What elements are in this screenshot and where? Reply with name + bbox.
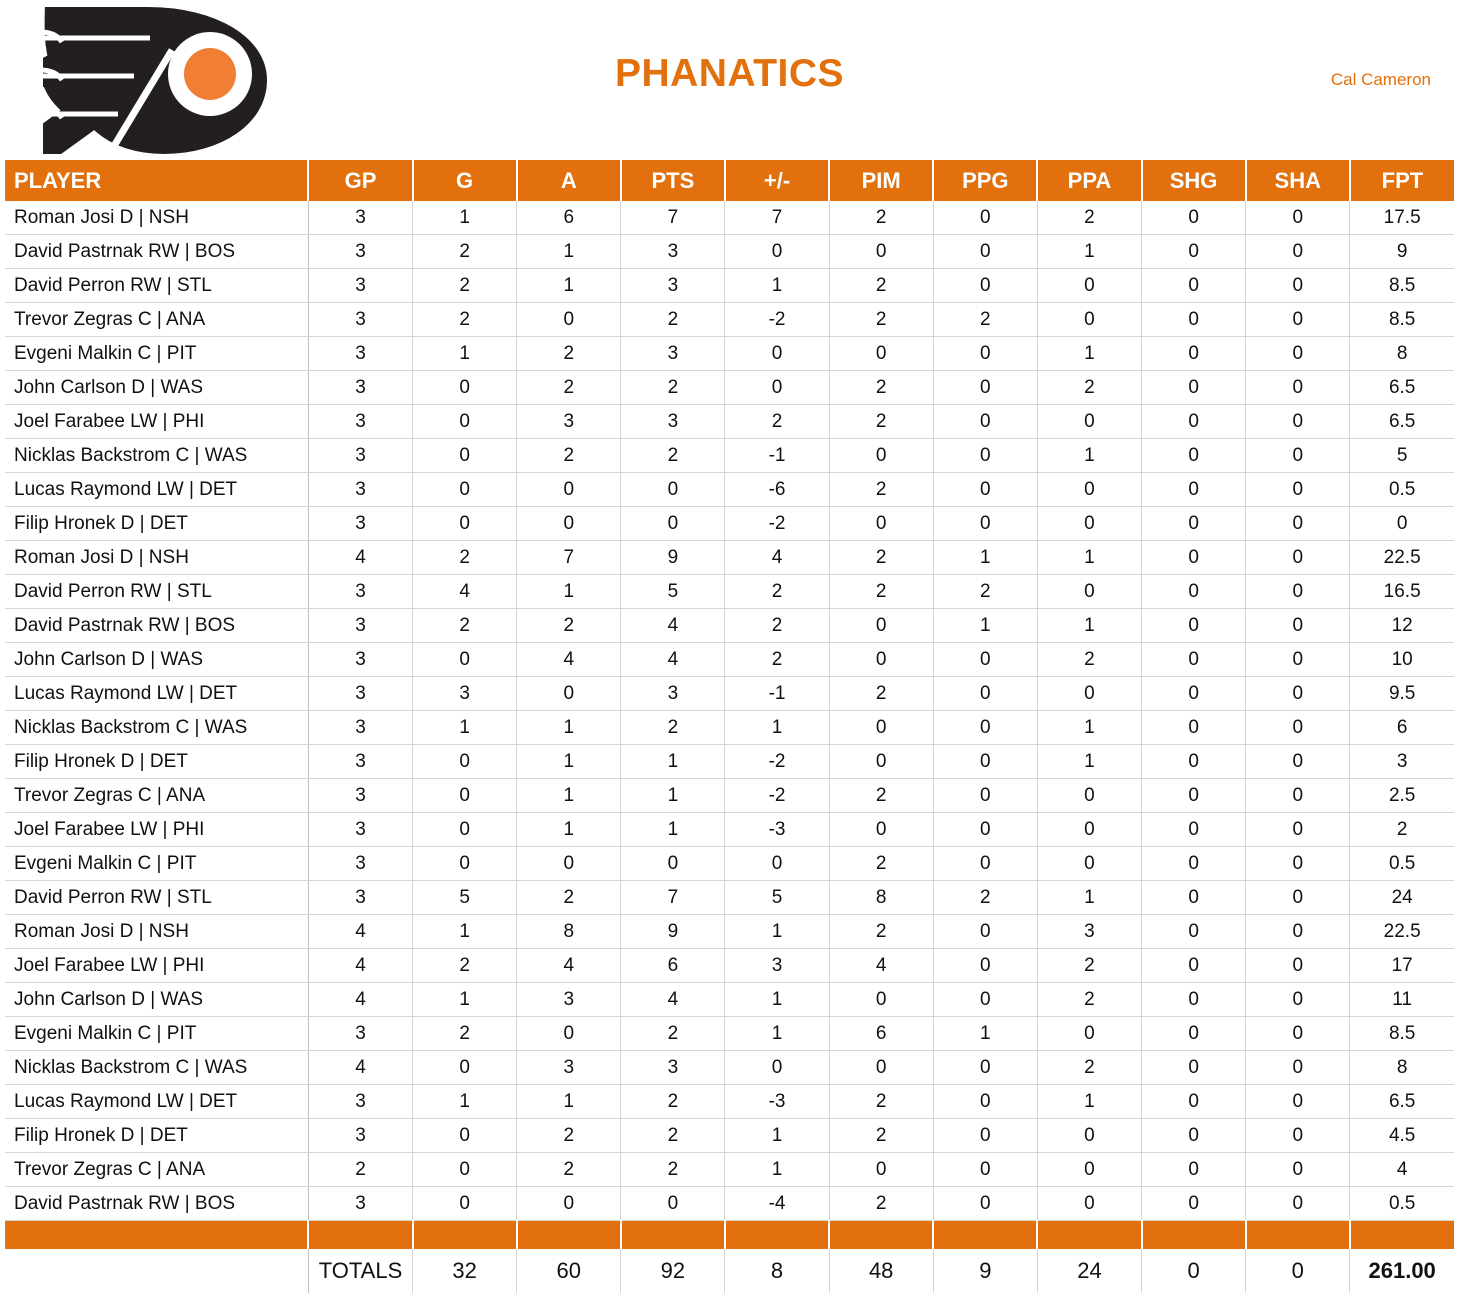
cell-ppa: 0 — [1037, 473, 1141, 507]
cell-shg: 0 — [1142, 1017, 1246, 1051]
cell-shg: 0 — [1142, 575, 1246, 609]
cell-player-name: David Pastrnak RW | BOS — [5, 235, 308, 269]
table-row: Trevor Zegras C | ANA3202-2220008.5 — [5, 303, 1454, 337]
cell-pts: 0 — [621, 473, 725, 507]
cell-pim: 2 — [829, 779, 933, 813]
separator-cell — [725, 1221, 829, 1250]
cell-g: 2 — [413, 303, 517, 337]
cell-pim: 0 — [829, 507, 933, 541]
cell-pim: 4 — [829, 949, 933, 983]
cell-g: 2 — [413, 1017, 517, 1051]
cell-pts: 4 — [621, 609, 725, 643]
cell-player-name: Roman Josi D | NSH — [5, 915, 308, 949]
cell-shg: 0 — [1142, 1119, 1246, 1153]
cell-pts: 9 — [621, 541, 725, 575]
cell-plusminus: -4 — [725, 1187, 829, 1221]
cell-pim: 0 — [829, 337, 933, 371]
cell-plusminus: 2 — [725, 405, 829, 439]
table-row: Trevor Zegras C | ANA3011-2200002.5 — [5, 779, 1454, 813]
cell-fpt: 9 — [1350, 235, 1454, 269]
cell-a: 0 — [517, 1187, 621, 1221]
totals-blank-cell — [5, 1249, 308, 1293]
cell-shg: 0 — [1142, 235, 1246, 269]
cell-shg: 0 — [1142, 1187, 1246, 1221]
cell-plusminus: 2 — [725, 643, 829, 677]
cell-gp: 3 — [308, 1119, 412, 1153]
table-row: Nicklas Backstrom C | WAS3022-1001005 — [5, 439, 1454, 473]
cell-ppg: 0 — [933, 983, 1037, 1017]
cell-gp: 3 — [308, 1187, 412, 1221]
cell-sha: 0 — [1246, 439, 1350, 473]
cell-fpt: 6 — [1350, 711, 1454, 745]
cell-shg: 0 — [1142, 1085, 1246, 1119]
roster-stats-page: R PHANATICS Cal Cameron PLAYER GP G A PT… — [0, 0, 1459, 1299]
cell-gp: 3 — [308, 643, 412, 677]
cell-sha: 0 — [1246, 405, 1350, 439]
cell-ppg: 0 — [933, 201, 1037, 235]
cell-g: 2 — [413, 949, 517, 983]
cell-shg: 0 — [1142, 371, 1246, 405]
cell-shg: 0 — [1142, 303, 1246, 337]
totals-ppg: 9 — [933, 1249, 1037, 1293]
cell-a: 3 — [517, 1051, 621, 1085]
table-row: Roman Josi D | NSH418912030022.5 — [5, 915, 1454, 949]
separator-cell — [621, 1221, 725, 1250]
cell-pts: 0 — [621, 847, 725, 881]
cell-ppg: 0 — [933, 1051, 1037, 1085]
cell-plusminus: -6 — [725, 473, 829, 507]
table-row: Evgeni Malkin C | PIT31230001008 — [5, 337, 1454, 371]
cell-sha: 0 — [1246, 609, 1350, 643]
separator-cell — [1037, 1221, 1141, 1250]
cell-g: 0 — [413, 371, 517, 405]
cell-ppa: 0 — [1037, 575, 1141, 609]
cell-plusminus: 3 — [725, 949, 829, 983]
cell-ppg: 0 — [933, 915, 1037, 949]
cell-ppa: 1 — [1037, 711, 1141, 745]
cell-pts: 4 — [621, 643, 725, 677]
table-row: Roman Josi D | NSH316772020017.5 — [5, 201, 1454, 235]
cell-shg: 0 — [1142, 677, 1246, 711]
cell-pts: 2 — [621, 1085, 725, 1119]
cell-ppg: 0 — [933, 745, 1037, 779]
cell-shg: 0 — [1142, 541, 1246, 575]
cell-ppa: 0 — [1037, 405, 1141, 439]
table-row: Joel Farabee LW | PHI30332200006.5 — [5, 405, 1454, 439]
cell-ppg: 0 — [933, 1085, 1037, 1119]
cell-sha: 0 — [1246, 235, 1350, 269]
cell-fpt: 4 — [1350, 1153, 1454, 1187]
cell-pim: 2 — [829, 847, 933, 881]
cell-a: 1 — [517, 745, 621, 779]
cell-pim: 0 — [829, 643, 933, 677]
cell-sha: 0 — [1246, 269, 1350, 303]
totals-sha: 0 — [1246, 1249, 1350, 1293]
cell-ppg: 2 — [933, 575, 1037, 609]
table-row: David Perron RW | STL32131200008.5 — [5, 269, 1454, 303]
cell-a: 1 — [517, 235, 621, 269]
cell-fpt: 8 — [1350, 337, 1454, 371]
team-title: PHANATICS — [0, 52, 1459, 96]
cell-player-name: Filip Hronek D | DET — [5, 745, 308, 779]
column-header-plusminus[interactable]: +/- — [725, 160, 829, 201]
table-row: Joel Farabee LW | PHI424634020017 — [5, 949, 1454, 983]
separator-cell — [933, 1221, 1037, 1250]
cell-a: 3 — [517, 405, 621, 439]
cell-a: 2 — [517, 337, 621, 371]
totals-a: 60 — [517, 1249, 621, 1293]
cell-a: 1 — [517, 779, 621, 813]
table-row: John Carlson D | WAS30220202006.5 — [5, 371, 1454, 405]
cell-sha: 0 — [1246, 541, 1350, 575]
column-header-player[interactable]: PLAYER — [5, 160, 308, 201]
cell-ppg: 0 — [933, 779, 1037, 813]
table-row: David Pastrnak RW | BOS32130001009 — [5, 235, 1454, 269]
cell-pim: 0 — [829, 813, 933, 847]
cell-plusminus: 0 — [725, 371, 829, 405]
column-header-pts[interactable]: PTS — [621, 160, 725, 201]
cell-sha: 0 — [1246, 983, 1350, 1017]
table-row: Lucas Raymond LW | DET3112-3201006.5 — [5, 1085, 1454, 1119]
cell-plusminus: -3 — [725, 1085, 829, 1119]
column-header-a[interactable]: A — [517, 160, 621, 201]
cell-plusminus: 1 — [725, 1017, 829, 1051]
cell-gp: 3 — [308, 405, 412, 439]
cell-ppg: 0 — [933, 337, 1037, 371]
cell-ppa: 1 — [1037, 337, 1141, 371]
cell-ppg: 0 — [933, 235, 1037, 269]
cell-sha: 0 — [1246, 1119, 1350, 1153]
cell-g: 1 — [413, 915, 517, 949]
separator-cell — [1246, 1221, 1350, 1250]
cell-ppa: 0 — [1037, 1153, 1141, 1187]
cell-fpt: 8.5 — [1350, 303, 1454, 337]
cell-player-name: Joel Farabee LW | PHI — [5, 813, 308, 847]
cell-gp: 3 — [308, 473, 412, 507]
cell-gp: 3 — [308, 201, 412, 235]
cell-sha: 0 — [1246, 337, 1350, 371]
totals-fpt: 261.00 — [1350, 1249, 1454, 1293]
cell-player-name: David Perron RW | STL — [5, 881, 308, 915]
cell-g: 0 — [413, 643, 517, 677]
table-row: Filip Hronek D | DET3011-2001003 — [5, 745, 1454, 779]
cell-fpt: 8 — [1350, 1051, 1454, 1085]
separator-cell — [1350, 1221, 1454, 1250]
cell-gp: 3 — [308, 711, 412, 745]
cell-pts: 6 — [621, 949, 725, 983]
cell-gp: 3 — [308, 303, 412, 337]
cell-ppa: 2 — [1037, 643, 1141, 677]
column-header-fpt[interactable]: FPT — [1350, 160, 1454, 201]
cell-pts: 3 — [621, 337, 725, 371]
cell-pim: 2 — [829, 1119, 933, 1153]
cell-plusminus: 1 — [725, 915, 829, 949]
cell-pim: 0 — [829, 711, 933, 745]
table-row: Evgeni Malkin C | PIT30000200000.5 — [5, 847, 1454, 881]
cell-shg: 0 — [1142, 711, 1246, 745]
cell-player-name: David Perron RW | STL — [5, 575, 308, 609]
cell-fpt: 6.5 — [1350, 405, 1454, 439]
cell-gp: 3 — [308, 847, 412, 881]
table-row: Roman Josi D | NSH427942110022.5 — [5, 541, 1454, 575]
cell-pim: 0 — [829, 983, 933, 1017]
cell-pim: 2 — [829, 915, 933, 949]
cell-a: 2 — [517, 371, 621, 405]
cell-sha: 0 — [1246, 949, 1350, 983]
cell-fpt: 8.5 — [1350, 1017, 1454, 1051]
cell-gp: 3 — [308, 677, 412, 711]
cell-sha: 0 — [1246, 371, 1350, 405]
cell-pts: 2 — [621, 1153, 725, 1187]
totals-shg: 0 — [1142, 1249, 1246, 1293]
cell-ppa: 2 — [1037, 1051, 1141, 1085]
cell-ppa: 0 — [1037, 303, 1141, 337]
totals-pts: 92 — [621, 1249, 725, 1293]
cell-fpt: 24 — [1350, 881, 1454, 915]
cell-pim: 0 — [829, 439, 933, 473]
cell-g: 0 — [413, 473, 517, 507]
cell-a: 1 — [517, 711, 621, 745]
cell-fpt: 0.5 — [1350, 847, 1454, 881]
cell-ppg: 0 — [933, 473, 1037, 507]
cell-sha: 0 — [1246, 677, 1350, 711]
cell-a: 4 — [517, 949, 621, 983]
cell-fpt: 5 — [1350, 439, 1454, 473]
cell-plusminus: 0 — [725, 847, 829, 881]
cell-plusminus: 2 — [725, 575, 829, 609]
cell-pts: 2 — [621, 439, 725, 473]
cell-pim: 2 — [829, 575, 933, 609]
cell-g: 1 — [413, 337, 517, 371]
cell-fpt: 12 — [1350, 609, 1454, 643]
table-row: David Perron RW | STL341522200016.5 — [5, 575, 1454, 609]
table-row: John Carlson D | WAS413410020011 — [5, 983, 1454, 1017]
cell-pts: 3 — [621, 405, 725, 439]
cell-ppg: 0 — [933, 1187, 1037, 1221]
cell-pim: 6 — [829, 1017, 933, 1051]
cell-ppg: 0 — [933, 847, 1037, 881]
cell-fpt: 11 — [1350, 983, 1454, 1017]
cell-g: 2 — [413, 269, 517, 303]
cell-plusminus: 0 — [725, 235, 829, 269]
table-row: Lucas Raymond LW | DET3303-1200009.5 — [5, 677, 1454, 711]
cell-plusminus: -2 — [725, 303, 829, 337]
separator-cell — [517, 1221, 621, 1250]
cell-ppa: 0 — [1037, 1187, 1141, 1221]
cell-player-name: Lucas Raymond LW | DET — [5, 677, 308, 711]
cell-shg: 0 — [1142, 745, 1246, 779]
column-header-ppg[interactable]: PPG — [933, 160, 1037, 201]
cell-sha: 0 — [1246, 847, 1350, 881]
cell-pts: 2 — [621, 1017, 725, 1051]
cell-plusminus: -1 — [725, 439, 829, 473]
cell-g: 1 — [413, 711, 517, 745]
cell-pim: 2 — [829, 1085, 933, 1119]
cell-g: 2 — [413, 235, 517, 269]
cell-a: 3 — [517, 983, 621, 1017]
separator-cell — [829, 1221, 933, 1250]
table-header-row: PLAYER GP G A PTS +/- PIM PPG PPA SHG SH… — [5, 160, 1454, 201]
cell-g: 0 — [413, 405, 517, 439]
cell-plusminus: 4 — [725, 541, 829, 575]
cell-player-name: Roman Josi D | NSH — [5, 541, 308, 575]
cell-gp: 3 — [308, 269, 412, 303]
cell-g: 0 — [413, 439, 517, 473]
cell-shg: 0 — [1142, 847, 1246, 881]
cell-player-name: John Carlson D | WAS — [5, 983, 308, 1017]
cell-plusminus: -2 — [725, 507, 829, 541]
cell-pts: 1 — [621, 813, 725, 847]
cell-gp: 3 — [308, 1017, 412, 1051]
cell-a: 2 — [517, 1153, 621, 1187]
cell-pts: 9 — [621, 915, 725, 949]
cell-g: 1 — [413, 983, 517, 1017]
cell-ppa: 1 — [1037, 541, 1141, 575]
cell-gp: 4 — [308, 949, 412, 983]
cell-pim: 0 — [829, 1153, 933, 1187]
cell-pts: 7 — [621, 881, 725, 915]
cell-g: 0 — [413, 507, 517, 541]
cell-player-name: David Pastrnak RW | BOS — [5, 609, 308, 643]
cell-plusminus: 1 — [725, 711, 829, 745]
cell-pim: 0 — [829, 235, 933, 269]
cell-ppa: 0 — [1037, 847, 1141, 881]
cell-pts: 7 — [621, 201, 725, 235]
cell-fpt: 0 — [1350, 507, 1454, 541]
column-header-shg[interactable]: SHG — [1142, 160, 1246, 201]
cell-ppg: 1 — [933, 541, 1037, 575]
cell-sha: 0 — [1246, 473, 1350, 507]
cell-a: 0 — [517, 473, 621, 507]
cell-pts: 3 — [621, 677, 725, 711]
cell-gp: 3 — [308, 337, 412, 371]
cell-shg: 0 — [1142, 439, 1246, 473]
cell-ppa: 2 — [1037, 371, 1141, 405]
cell-sha: 0 — [1246, 507, 1350, 541]
cell-a: 0 — [517, 1017, 621, 1051]
cell-sha: 0 — [1246, 1187, 1350, 1221]
cell-a: 1 — [517, 269, 621, 303]
cell-player-name: Trevor Zegras C | ANA — [5, 779, 308, 813]
cell-a: 2 — [517, 609, 621, 643]
cell-pim: 0 — [829, 1051, 933, 1085]
cell-gp: 3 — [308, 609, 412, 643]
cell-pts: 3 — [621, 269, 725, 303]
cell-a: 7 — [517, 541, 621, 575]
cell-ppa: 1 — [1037, 745, 1141, 779]
cell-a: 1 — [517, 813, 621, 847]
cell-fpt: 16.5 — [1350, 575, 1454, 609]
cell-gp: 4 — [308, 983, 412, 1017]
cell-gp: 3 — [308, 371, 412, 405]
cell-g: 3 — [413, 677, 517, 711]
cell-ppg: 0 — [933, 439, 1037, 473]
cell-gp: 2 — [308, 1153, 412, 1187]
cell-gp: 3 — [308, 745, 412, 779]
cell-gp: 3 — [308, 235, 412, 269]
cell-g: 1 — [413, 201, 517, 235]
cell-plusminus: 1 — [725, 1153, 829, 1187]
cell-player-name: Nicklas Backstrom C | WAS — [5, 439, 308, 473]
cell-a: 8 — [517, 915, 621, 949]
cell-fpt: 2.5 — [1350, 779, 1454, 813]
cell-g: 4 — [413, 575, 517, 609]
cell-ppg: 2 — [933, 303, 1037, 337]
totals-label: TOTALS — [308, 1249, 412, 1293]
cell-player-name: Trevor Zegras C | ANA — [5, 1153, 308, 1187]
cell-plusminus: 1 — [725, 983, 829, 1017]
cell-pts: 2 — [621, 1119, 725, 1153]
cell-plusminus: 0 — [725, 337, 829, 371]
cell-plusminus: 7 — [725, 201, 829, 235]
cell-sha: 0 — [1246, 303, 1350, 337]
cell-player-name: Lucas Raymond LW | DET — [5, 1085, 308, 1119]
cell-pim: 2 — [829, 541, 933, 575]
cell-ppg: 1 — [933, 1017, 1037, 1051]
table-row: Joel Farabee LW | PHI3011-3000002 — [5, 813, 1454, 847]
cell-plusminus: -2 — [725, 745, 829, 779]
cell-plusminus: 5 — [725, 881, 829, 915]
cell-player-name: Evgeni Malkin C | PIT — [5, 1017, 308, 1051]
cell-player-name: Evgeni Malkin C | PIT — [5, 337, 308, 371]
cell-player-name: Nicklas Backstrom C | WAS — [5, 1051, 308, 1085]
cell-a: 2 — [517, 439, 621, 473]
cell-fpt: 4.5 — [1350, 1119, 1454, 1153]
cell-player-name: David Pastrnak RW | BOS — [5, 1187, 308, 1221]
table-row: Filip Hronek D | DET30221200004.5 — [5, 1119, 1454, 1153]
column-header-g[interactable]: G — [413, 160, 517, 201]
cell-sha: 0 — [1246, 643, 1350, 677]
column-header-gp[interactable]: GP — [308, 160, 412, 201]
cell-ppg: 0 — [933, 813, 1037, 847]
cell-pim: 2 — [829, 677, 933, 711]
cell-sha: 0 — [1246, 813, 1350, 847]
cell-pts: 5 — [621, 575, 725, 609]
cell-pim: 2 — [829, 405, 933, 439]
cell-sha: 0 — [1246, 1153, 1350, 1187]
cell-player-name: Trevor Zegras C | ANA — [5, 303, 308, 337]
cell-sha: 0 — [1246, 915, 1350, 949]
cell-shg: 0 — [1142, 269, 1246, 303]
cell-gp: 4 — [308, 1051, 412, 1085]
cell-fpt: 0.5 — [1350, 473, 1454, 507]
cell-pts: 2 — [621, 371, 725, 405]
totals-g: 32 — [413, 1249, 517, 1293]
cell-plusminus: -2 — [725, 779, 829, 813]
cell-g: 5 — [413, 881, 517, 915]
cell-pim: 2 — [829, 1187, 933, 1221]
cell-pim: 2 — [829, 303, 933, 337]
column-header-ppa[interactable]: PPA — [1037, 160, 1141, 201]
cell-pim: 0 — [829, 609, 933, 643]
column-header-pim[interactable]: PIM — [829, 160, 933, 201]
cell-g: 0 — [413, 1051, 517, 1085]
cell-plusminus: 1 — [725, 269, 829, 303]
cell-plusminus: 1 — [725, 1119, 829, 1153]
cell-ppg: 0 — [933, 643, 1037, 677]
cell-shg: 0 — [1142, 473, 1246, 507]
cell-ppa: 3 — [1037, 915, 1141, 949]
column-header-sha[interactable]: SHA — [1246, 160, 1350, 201]
cell-ppa: 0 — [1037, 269, 1141, 303]
cell-ppg: 0 — [933, 711, 1037, 745]
cell-player-name: David Perron RW | STL — [5, 269, 308, 303]
cell-gp: 4 — [308, 541, 412, 575]
cell-g: 0 — [413, 813, 517, 847]
cell-pts: 2 — [621, 711, 725, 745]
cell-a: 0 — [517, 677, 621, 711]
totals-plusminus: 8 — [725, 1249, 829, 1293]
